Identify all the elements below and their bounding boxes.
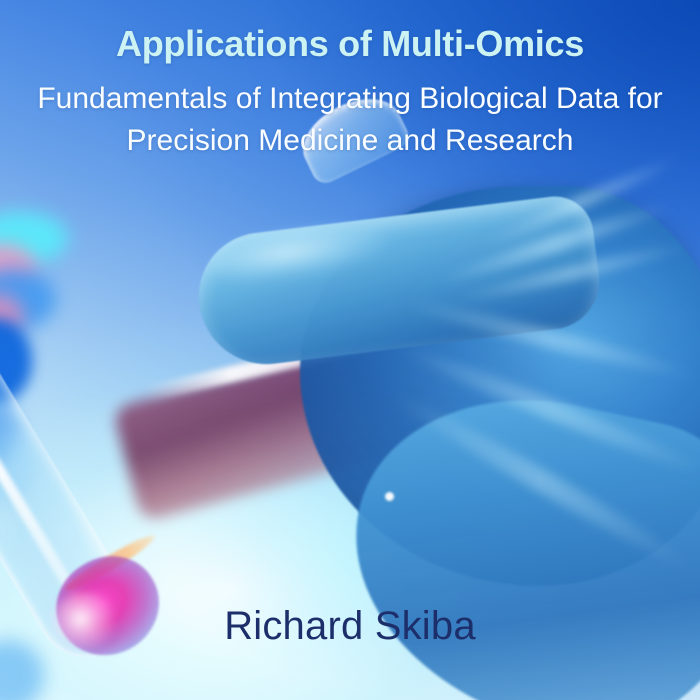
cover-subtitle: Fundamentals of Integrating Biological D…	[34, 78, 666, 162]
cover-author: Richard Skiba	[0, 604, 700, 649]
cover-title: Applications of Multi-Omics	[0, 24, 700, 64]
cover-text-layer: Applications of Multi-Omics Fundamentals…	[0, 0, 700, 700]
book-cover: Applications of Multi-Omics Fundamentals…	[0, 0, 700, 700]
